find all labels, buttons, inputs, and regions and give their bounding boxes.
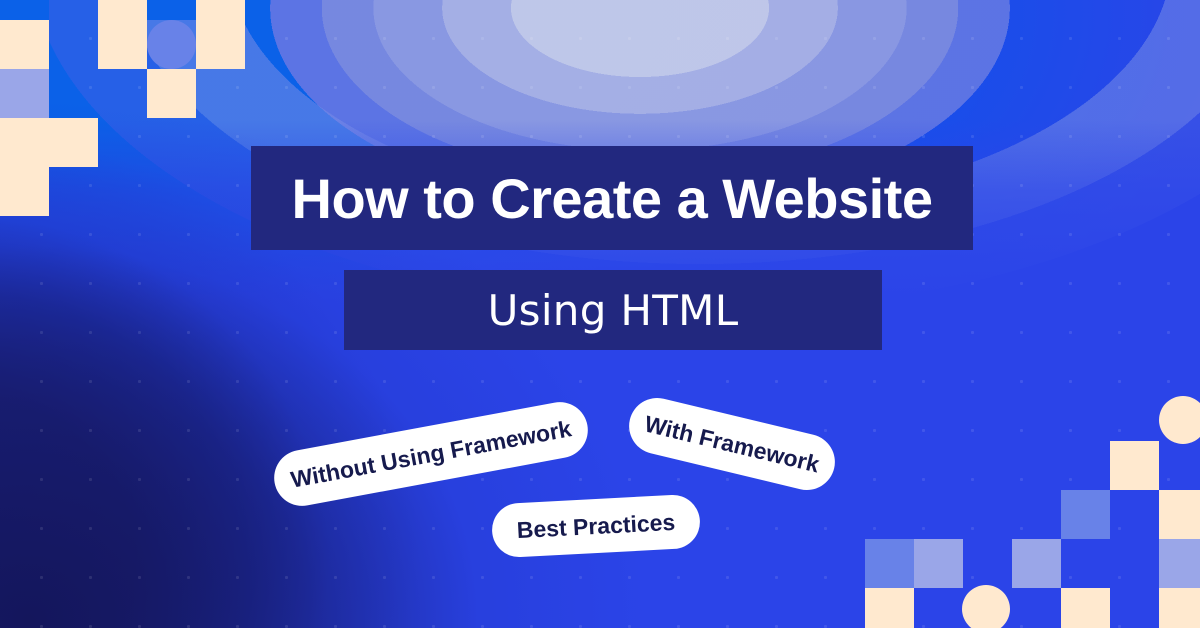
title-banner-box: How to Create a Website: [251, 146, 973, 250]
cream-square-r0c1: [98, 0, 147, 20]
cream-square-br-r3c5: [1159, 588, 1200, 628]
periwinkle-circle-icon: [147, 20, 196, 69]
cream-square-r3c0: [0, 118, 49, 167]
periwinkle-square-r2c0: [0, 69, 49, 118]
cream-circle-bottom: [962, 585, 1010, 628]
cream-square-br-r1c5: [1159, 490, 1200, 539]
cream-square-r4c0: [0, 167, 49, 216]
blog-header-banner: How to Create a Website Using HTML Witho…: [0, 0, 1200, 628]
cream-square-r1c0: [0, 20, 49, 69]
periwinkle-square-br-r2c5: [1159, 539, 1200, 588]
blue-square-r0c2: [147, 0, 196, 20]
cream-square-br-r0c4: [1110, 441, 1159, 490]
periwinkle-mid-square-br-r1c3: [1061, 490, 1110, 539]
cream-circle-top-right: [1159, 396, 1200, 444]
cream-square-br-r3c0: [865, 588, 914, 628]
cream-square-r0c3: [196, 0, 245, 20]
periwinkle-square-br-r2c1: [914, 539, 963, 588]
pill-label: Best Practices: [516, 508, 676, 543]
blue-square-r0c0: [0, 0, 49, 20]
pill-best-practices[interactable]: Best Practices: [491, 494, 702, 559]
cream-square-r3c1: [49, 118, 98, 167]
page-title: How to Create a Website: [292, 166, 933, 231]
periwinkle-square-br-r2c3: [1012, 539, 1061, 588]
cream-square-r1c2: [98, 20, 147, 69]
page-subtitle: Using HTML: [488, 286, 739, 335]
cream-square-r1c4: [196, 20, 245, 69]
subtitle-banner-box: Using HTML: [344, 270, 882, 350]
cream-square-r2c3: [147, 69, 196, 118]
periwinkle-mid-square-br-r2c0: [865, 539, 914, 588]
cream-square-br-r3c3: [1061, 588, 1110, 628]
